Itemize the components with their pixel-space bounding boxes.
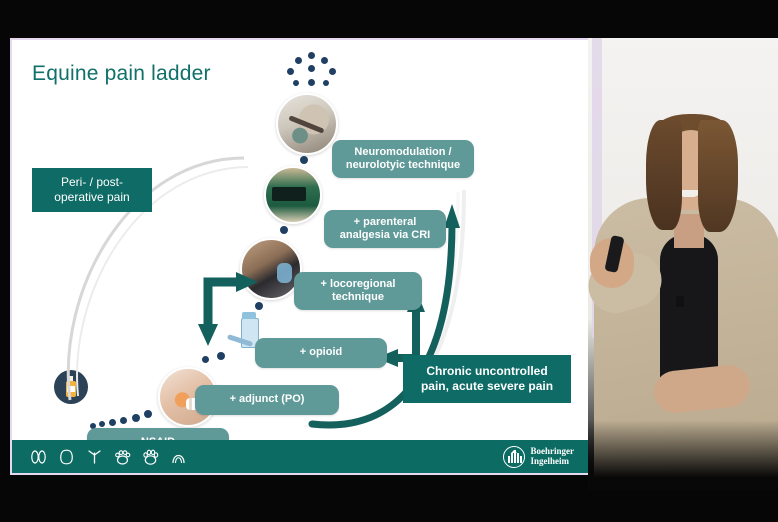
screen: Equine pain ladder Boehringer Ingelheim …: [0, 0, 778, 522]
dog-paw-icon: [142, 449, 159, 465]
bird-foot-icon: [86, 449, 103, 465]
ladder-step-adjunct[interactable]: + adjunct (PO): [195, 385, 339, 415]
decor-dot: [295, 57, 302, 64]
nsaid-bottle-icon: [54, 370, 88, 404]
decor-dot: [120, 417, 127, 424]
step-label-line1: Neuromodulation /: [354, 146, 451, 159]
ladder-step-locoregional[interactable]: + locoregional technique: [294, 272, 422, 310]
decor-dot: [308, 52, 315, 59]
callout-line1: Chronic uncontrolled: [426, 364, 547, 379]
cat-paw-icon: [114, 449, 131, 465]
ladder-step-neuromodulation[interactable]: Neuromodulation / neurolotyic technique: [332, 140, 474, 178]
horse-head-photo: [276, 93, 338, 155]
callout-peri-post-operative: Peri- / post- operative pain: [32, 168, 152, 212]
cloven-hoof-icon: [58, 449, 75, 465]
decor-dot: [293, 80, 299, 86]
lapel-microphone-icon: [676, 296, 684, 307]
decor-dot: [255, 302, 263, 310]
decor-dot: [308, 79, 315, 86]
horse-hoof-icon: [170, 449, 187, 465]
callout-line2: pain, acute severe pain: [421, 379, 553, 394]
callout-line1: Peri- / post-: [61, 175, 123, 190]
step-label-line2: neurolotyic technique: [346, 159, 460, 172]
ladder-step-parenteral[interactable]: + parenteral analgesia via CRI: [324, 210, 446, 248]
slide-footer: Boehringer Ingelheim: [12, 440, 588, 473]
presenter-video-overlay: [588, 38, 778, 490]
decor-dot: [300, 156, 308, 164]
decor-dot: [280, 226, 288, 234]
footer-animal-icons: [30, 449, 187, 465]
step-label: + adjunct (PO): [230, 393, 305, 406]
decor-dot: [202, 356, 209, 363]
callout-chronic-uncontrolled: Chronic uncontrolled pain, acute severe …: [403, 355, 571, 403]
step-label-line1: + locoregional: [321, 278, 396, 291]
decor-dot: [109, 419, 116, 426]
ladder-step-opioid[interactable]: + opioid: [255, 338, 387, 368]
footer-boehringer-logo: Boehringer Ingelheim: [503, 446, 575, 468]
decor-dot: [329, 68, 336, 75]
decor-dot: [321, 57, 328, 64]
decor-dot: [308, 65, 315, 72]
decor-dot: [144, 410, 152, 418]
step-label-line2: technique: [332, 291, 384, 304]
decor-dot: [217, 352, 225, 360]
decor-dot: [287, 68, 294, 75]
vet-limb-photo: [240, 238, 302, 300]
presentation-slide: Equine pain ladder Boehringer Ingelheim …: [10, 38, 590, 475]
anesthesia-monitor-photo: [264, 166, 322, 224]
step-label-line1: + parenteral: [354, 216, 417, 229]
callout-line2: operative pain: [54, 190, 129, 205]
page-title: Equine pain ladder: [32, 62, 211, 86]
bi-mark-icon: [503, 446, 525, 468]
hoof-print-icon: [30, 449, 47, 465]
decor-dot: [323, 80, 329, 86]
decor-dot: [99, 421, 105, 427]
step-label-line2: analgesia via CRI: [340, 229, 431, 242]
decor-dot: [132, 414, 140, 422]
step-label: + opioid: [300, 346, 342, 359]
footer-brand-line-2: Ingelheim: [531, 457, 575, 466]
